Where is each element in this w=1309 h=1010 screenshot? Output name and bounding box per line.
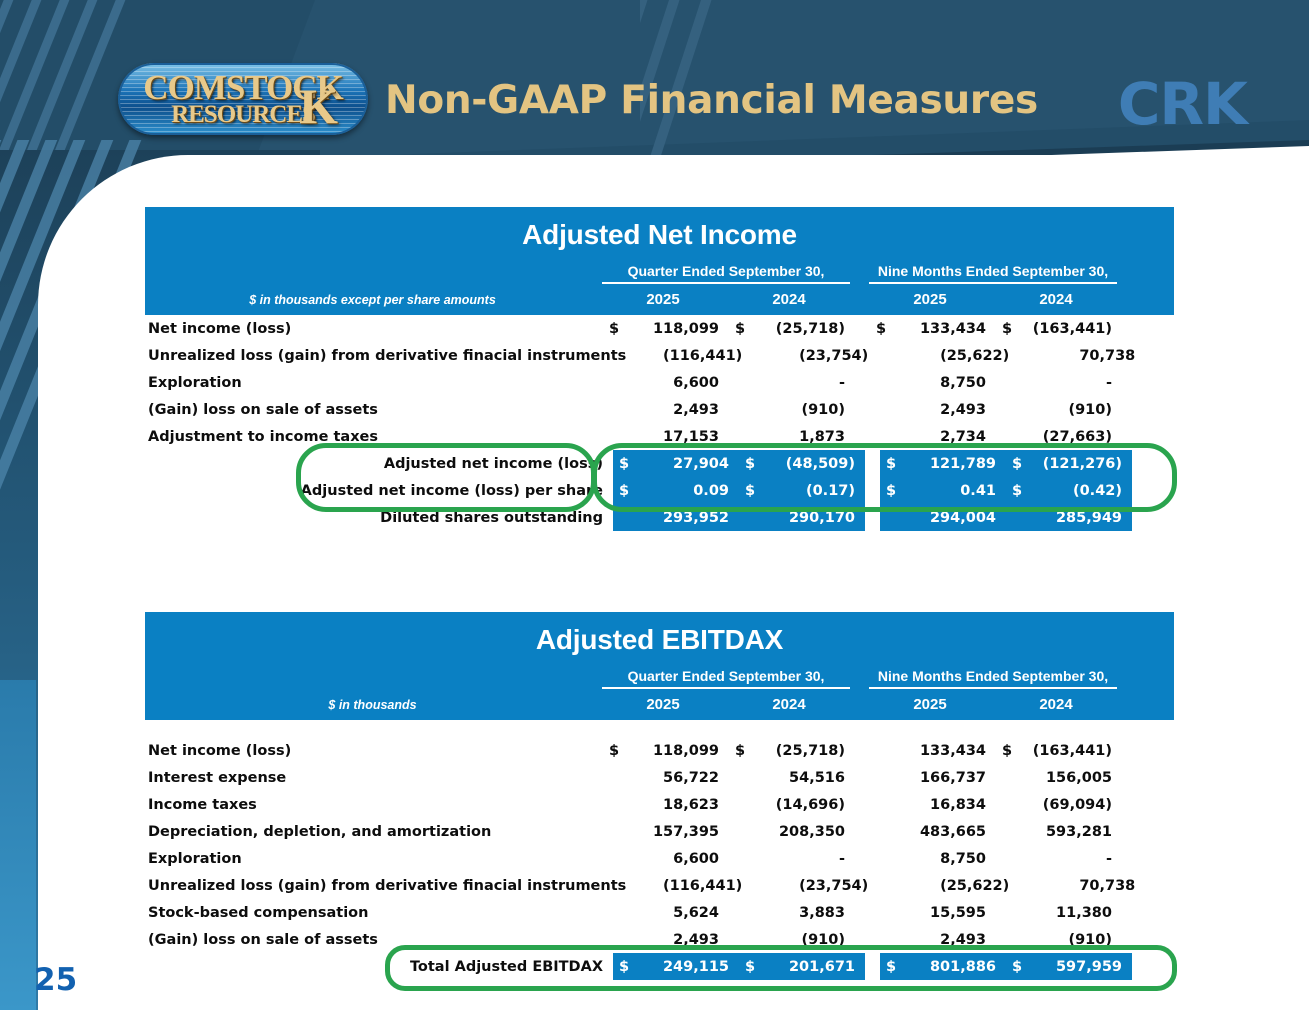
table-cell: (116,441) bbox=[626, 342, 752, 369]
cell-group: $0.41$(0.42) bbox=[880, 477, 1132, 504]
table-cell: 6,600 bbox=[603, 369, 729, 396]
cell-group: $27,904$(48,509) bbox=[613, 450, 865, 477]
table-cell: $121,789 bbox=[880, 450, 1006, 477]
header-rule bbox=[602, 687, 850, 689]
table-cell: (910) bbox=[996, 396, 1122, 423]
cell-value: 2,493 bbox=[635, 402, 729, 418]
cell-value: - bbox=[761, 851, 855, 867]
cell-group: (116,441)(23,754) bbox=[626, 342, 878, 369]
cell-value: 0.09 bbox=[645, 483, 739, 499]
table-cell: 16,834 bbox=[870, 791, 996, 818]
cell-group: 5,6243,883 bbox=[603, 899, 855, 926]
table-cell: $0.41 bbox=[880, 477, 1006, 504]
table-header: Adjusted EBITDAX $ in thousands Quarter … bbox=[145, 612, 1174, 720]
cell-group: 6,600- bbox=[603, 369, 855, 396]
table-cell: (910) bbox=[729, 396, 855, 423]
cell-value: (121,276) bbox=[1038, 456, 1132, 472]
cell-group: 8,750- bbox=[870, 845, 1122, 872]
column-group-quarter-label: Quarter Ended September 30, bbox=[600, 668, 852, 687]
currency-symbol: $ bbox=[603, 743, 635, 759]
cell-value: 121,789 bbox=[912, 456, 1006, 472]
row-label: Total Adjusted EBITDAX bbox=[145, 959, 613, 975]
table-cell: - bbox=[729, 369, 855, 396]
column-year-n-2025: 2025 bbox=[867, 291, 993, 315]
table-cell: 285,949 bbox=[1006, 504, 1132, 531]
table-cell: (25,622) bbox=[893, 342, 1019, 369]
cell-value: 11,380 bbox=[1028, 905, 1122, 921]
cell-value: (0.17) bbox=[771, 483, 865, 499]
currency-symbol: $ bbox=[996, 743, 1028, 759]
cell-value: 2,493 bbox=[902, 402, 996, 418]
column-group-nine-months: Nine Months Ended September 30, 2025 202… bbox=[867, 668, 1119, 720]
table-cell: $(48,509) bbox=[739, 450, 865, 477]
column-year-q-2025: 2025 bbox=[600, 696, 726, 720]
table-row: Adjustment to income taxes17,1531,8732,7… bbox=[145, 423, 1174, 450]
table-title: Adjusted Net Income bbox=[145, 207, 1174, 253]
table-cell: 2,734 bbox=[870, 423, 996, 450]
currency-symbol: $ bbox=[613, 456, 645, 472]
table-cell: 156,005 bbox=[996, 764, 1122, 791]
column-group-quarter-label: Quarter Ended September 30, bbox=[600, 263, 852, 282]
row-label: (Gain) loss on sale of assets bbox=[145, 402, 603, 418]
column-year-n-2024: 2024 bbox=[993, 696, 1119, 720]
currency-symbol: $ bbox=[739, 456, 771, 472]
cell-value: (27,663) bbox=[1028, 429, 1122, 445]
cell-value: 0.41 bbox=[912, 483, 1006, 499]
column-year-n-2024: 2024 bbox=[993, 291, 1119, 315]
table-body: Net income (loss)$118,099$(25,718)133,43… bbox=[145, 720, 1174, 980]
table-column-headers: $ in thousands except per share amounts … bbox=[145, 253, 1174, 315]
cell-value: 593,281 bbox=[1028, 824, 1122, 840]
cell-group: 16,834(69,094) bbox=[870, 791, 1122, 818]
cell-value: (23,754) bbox=[784, 348, 878, 364]
row-label: Interest expense bbox=[145, 770, 603, 786]
cell-value: (116,441) bbox=[658, 878, 752, 894]
cell-value: 133,434 bbox=[902, 321, 996, 337]
table-cell: $801,886 bbox=[880, 953, 1006, 980]
currency-symbol: $ bbox=[1006, 959, 1038, 975]
cell-group: 2,493(910) bbox=[870, 396, 1122, 423]
table-title: Adjusted EBITDAX bbox=[145, 612, 1174, 658]
units-note: $ in thousands bbox=[145, 698, 600, 720]
table-cell: (23,754) bbox=[752, 342, 878, 369]
logo-line-2: RESOURCES bbox=[171, 103, 315, 126]
cell-value: - bbox=[1028, 375, 1122, 391]
units-note: $ in thousands except per share amounts bbox=[145, 293, 600, 315]
currency-symbol: $ bbox=[739, 483, 771, 499]
table-row: Diluted shares outstanding293,952290,170… bbox=[145, 504, 1174, 531]
cell-value: 118,099 bbox=[635, 321, 729, 337]
table-body: Net income (loss)$118,099$(25,718)$133,4… bbox=[145, 315, 1174, 531]
cell-value: (910) bbox=[1028, 402, 1122, 418]
row-label: Exploration bbox=[145, 375, 603, 391]
cell-value: 166,737 bbox=[902, 770, 996, 786]
cell-value: - bbox=[1028, 851, 1122, 867]
page-number: 25 bbox=[34, 962, 77, 998]
cell-value: 2,734 bbox=[902, 429, 996, 445]
table-row: Exploration6,600-8,750- bbox=[145, 845, 1174, 872]
row-label: Unrealized loss (gain) from derivative f… bbox=[145, 348, 626, 364]
table-cell: 8,750 bbox=[870, 369, 996, 396]
cell-group: 56,72254,516 bbox=[603, 764, 855, 791]
row-label: Net income (loss) bbox=[145, 321, 603, 337]
cell-group: 15,59511,380 bbox=[870, 899, 1122, 926]
cell-group: $118,099$(25,718) bbox=[603, 737, 855, 764]
table-column-headers: $ in thousands Quarter Ended September 3… bbox=[145, 658, 1174, 720]
table-cell: 166,737 bbox=[870, 764, 996, 791]
cell-value: 597,959 bbox=[1038, 959, 1132, 975]
row-label: Adjustment to income taxes bbox=[145, 429, 603, 445]
table-header: Adjusted Net Income $ in thousands excep… bbox=[145, 207, 1174, 315]
cell-group: 8,750- bbox=[870, 369, 1122, 396]
cell-value: (163,441) bbox=[1028, 321, 1122, 337]
table-cell: (27,663) bbox=[996, 423, 1122, 450]
table-cell: $133,434 bbox=[870, 315, 996, 342]
table-cell: (14,696) bbox=[729, 791, 855, 818]
table-cell: 208,350 bbox=[729, 818, 855, 845]
table-row: Interest expense56,72254,516166,737156,0… bbox=[145, 764, 1174, 791]
column-year-q-2025: 2025 bbox=[600, 291, 726, 315]
table-cell: 157,395 bbox=[603, 818, 729, 845]
cell-group: 2,493(910) bbox=[603, 926, 855, 953]
page-title: Non-GAAP Financial Measures bbox=[385, 78, 1038, 123]
cell-value: 6,600 bbox=[635, 375, 729, 391]
comstock-resources-logo: COMSTOCK RESOURCES K bbox=[118, 63, 368, 135]
table-cell: 2,493 bbox=[603, 396, 729, 423]
table-cell: 5,624 bbox=[603, 899, 729, 926]
cell-value: 208,350 bbox=[761, 824, 855, 840]
table-cell: 56,722 bbox=[603, 764, 729, 791]
left-accent-strip bbox=[0, 680, 36, 1010]
cell-group: 2,493(910) bbox=[603, 396, 855, 423]
cell-value: 801,886 bbox=[912, 959, 1006, 975]
cell-group: 166,737156,005 bbox=[870, 764, 1122, 791]
table-row: Net income (loss)$118,099$(25,718)$133,4… bbox=[145, 315, 1174, 342]
column-year-q-2024: 2024 bbox=[726, 291, 852, 315]
table-row: Adjusted net income (loss)$27,904$(48,50… bbox=[145, 450, 1174, 477]
logo-k-glyph: K bbox=[299, 77, 338, 135]
header-rule bbox=[869, 687, 1117, 689]
table-row: Depreciation, depletion, and amortizatio… bbox=[145, 818, 1174, 845]
table-cell: $(163,441) bbox=[996, 315, 1122, 342]
table-cell: (116,441) bbox=[626, 872, 752, 899]
row-label: Depreciation, depletion, and amortizatio… bbox=[145, 824, 603, 840]
cell-group: 6,600- bbox=[603, 845, 855, 872]
cell-value: 2,493 bbox=[635, 932, 729, 948]
cell-value: 16,834 bbox=[902, 797, 996, 813]
column-group-nine-months: Nine Months Ended September 30, 2025 202… bbox=[867, 263, 1119, 315]
table-cell: 54,516 bbox=[729, 764, 855, 791]
table-cell: 11,380 bbox=[996, 899, 1122, 926]
cell-value: 483,665 bbox=[902, 824, 996, 840]
table-cell: 17,153 bbox=[603, 423, 729, 450]
cell-group: $121,789$(121,276) bbox=[880, 450, 1132, 477]
table-cell: 2,493 bbox=[603, 926, 729, 953]
cell-value: 294,004 bbox=[912, 510, 1006, 526]
table-row: Adjusted net income (loss) per share$0.0… bbox=[145, 477, 1174, 504]
header-rule bbox=[602, 282, 850, 284]
cell-value: (25,622) bbox=[925, 348, 1019, 364]
table-row: Stock-based compensation5,6243,88315,595… bbox=[145, 899, 1174, 926]
cell-group: 2,493(910) bbox=[870, 926, 1122, 953]
cell-value: (25,622) bbox=[925, 878, 1019, 894]
table-cell: $(0.42) bbox=[1006, 477, 1132, 504]
row-label: Exploration bbox=[145, 851, 603, 867]
row-label: Unrealized loss (gain) from derivative f… bbox=[145, 878, 626, 894]
table-row: Income taxes18,623(14,696)16,834(69,094) bbox=[145, 791, 1174, 818]
cell-group: 483,665593,281 bbox=[870, 818, 1122, 845]
table-cell: 70,738 bbox=[1019, 342, 1145, 369]
table-cell: (23,754) bbox=[752, 872, 878, 899]
cell-value: 118,099 bbox=[635, 743, 729, 759]
table-cell: 18,623 bbox=[603, 791, 729, 818]
currency-symbol: $ bbox=[870, 321, 902, 337]
cell-value: 70,738 bbox=[1051, 878, 1145, 894]
cell-group: 2,734(27,663) bbox=[870, 423, 1122, 450]
cell-value: (69,094) bbox=[1028, 797, 1122, 813]
table-cell: 1,873 bbox=[729, 423, 855, 450]
currency-symbol: $ bbox=[996, 321, 1028, 337]
table-cell: $(121,276) bbox=[1006, 450, 1132, 477]
cell-group: 293,952290,170 bbox=[613, 504, 865, 531]
table-cell: 593,281 bbox=[996, 818, 1122, 845]
cell-value: 56,722 bbox=[635, 770, 729, 786]
cell-value: 133,434 bbox=[902, 743, 996, 759]
cell-value: 5,624 bbox=[635, 905, 729, 921]
cell-value: 2,493 bbox=[902, 932, 996, 948]
currency-symbol: $ bbox=[729, 743, 761, 759]
cell-value: (25,718) bbox=[761, 321, 855, 337]
table-cell: $118,099 bbox=[603, 737, 729, 764]
column-year-q-2024: 2024 bbox=[726, 696, 852, 720]
cell-group: $0.09$(0.17) bbox=[613, 477, 865, 504]
table-cell: 15,595 bbox=[870, 899, 996, 926]
cell-value: 6,600 bbox=[635, 851, 729, 867]
cell-value: (14,696) bbox=[761, 797, 855, 813]
currency-symbol: $ bbox=[729, 321, 761, 337]
cell-value: (910) bbox=[761, 932, 855, 948]
cell-group: $133,434$(163,441) bbox=[870, 315, 1122, 342]
table-cell: - bbox=[996, 845, 1122, 872]
row-label: Diluted shares outstanding bbox=[145, 510, 613, 526]
cell-group: (25,622)70,738 bbox=[893, 342, 1145, 369]
table-cell: 3,883 bbox=[729, 899, 855, 926]
cell-value: 156,005 bbox=[1028, 770, 1122, 786]
table-cell: - bbox=[996, 369, 1122, 396]
column-group-nine-months-label: Nine Months Ended September 30, bbox=[867, 263, 1119, 282]
table-cell: 133,434 bbox=[870, 737, 996, 764]
cell-value: 18,623 bbox=[635, 797, 729, 813]
currency-symbol: $ bbox=[739, 959, 771, 975]
cell-value: 249,115 bbox=[645, 959, 739, 975]
cell-group: $801,886$597,959 bbox=[880, 953, 1132, 980]
cell-group: $118,099$(25,718) bbox=[603, 315, 855, 342]
cell-value: (910) bbox=[1028, 932, 1122, 948]
cell-value: (163,441) bbox=[1028, 743, 1122, 759]
row-label: Net income (loss) bbox=[145, 743, 603, 759]
table-cell: - bbox=[729, 845, 855, 872]
adjusted-net-income-table: Adjusted Net Income $ in thousands excep… bbox=[145, 207, 1174, 531]
column-year-n-2025: 2025 bbox=[867, 696, 993, 720]
cell-group: 157,395208,350 bbox=[603, 818, 855, 845]
table-row: Total Adjusted EBITDAX$249,115$201,671$8… bbox=[145, 953, 1174, 980]
cell-value: 293,952 bbox=[645, 510, 739, 526]
row-label: (Gain) loss on sale of assets bbox=[145, 932, 603, 948]
cell-value: 8,750 bbox=[902, 851, 996, 867]
cell-group: (25,622)70,738 bbox=[893, 872, 1145, 899]
currency-symbol: $ bbox=[1006, 483, 1038, 499]
cell-value: 70,738 bbox=[1051, 348, 1145, 364]
table-cell: $(0.17) bbox=[739, 477, 865, 504]
table-cell: (69,094) bbox=[996, 791, 1122, 818]
table-row: Exploration6,600-8,750- bbox=[145, 369, 1174, 396]
table-cell: $118,099 bbox=[603, 315, 729, 342]
table-cell: $27,904 bbox=[613, 450, 739, 477]
adjusted-ebitdax-table: Adjusted EBITDAX $ in thousands Quarter … bbox=[145, 612, 1174, 980]
table-cell: (25,622) bbox=[893, 872, 1019, 899]
currency-symbol: $ bbox=[880, 483, 912, 499]
table-row: Unrealized loss (gain) from derivative f… bbox=[145, 342, 1174, 369]
cell-group: 294,004285,949 bbox=[880, 504, 1132, 531]
table-row: Net income (loss)$118,099$(25,718)133,43… bbox=[145, 737, 1174, 764]
column-group-quarter: Quarter Ended September 30, 2025 2024 bbox=[600, 668, 852, 720]
currency-symbol: $ bbox=[613, 959, 645, 975]
cell-value: 17,153 bbox=[635, 429, 729, 445]
row-label: Income taxes bbox=[145, 797, 603, 813]
cell-value: 290,170 bbox=[771, 510, 865, 526]
currency-symbol: $ bbox=[880, 959, 912, 975]
cell-value: 15,595 bbox=[902, 905, 996, 921]
currency-symbol: $ bbox=[603, 321, 635, 337]
row-label: Stock-based compensation bbox=[145, 905, 603, 921]
table-cell: 6,600 bbox=[603, 845, 729, 872]
cell-value: (0.42) bbox=[1038, 483, 1132, 499]
table-cell: $597,959 bbox=[1006, 953, 1132, 980]
table-cell: 2,493 bbox=[870, 926, 996, 953]
table-cell: (910) bbox=[996, 926, 1122, 953]
cell-value: (116,441) bbox=[658, 348, 752, 364]
table-cell: $(25,718) bbox=[729, 315, 855, 342]
cell-value: 54,516 bbox=[761, 770, 855, 786]
table-row: (Gain) loss on sale of assets2,493(910)2… bbox=[145, 396, 1174, 423]
currency-symbol: $ bbox=[1006, 456, 1038, 472]
column-group-quarter: Quarter Ended September 30, 2025 2024 bbox=[600, 263, 852, 315]
table-cell: $(163,441) bbox=[996, 737, 1122, 764]
currency-symbol: $ bbox=[880, 456, 912, 472]
table-cell: 2,493 bbox=[870, 396, 996, 423]
cell-value: 201,671 bbox=[771, 959, 865, 975]
cell-value: 1,873 bbox=[761, 429, 855, 445]
cell-group: 17,1531,873 bbox=[603, 423, 855, 450]
cell-group: $249,115$201,671 bbox=[613, 953, 865, 980]
table-cell: 290,170 bbox=[739, 504, 865, 531]
table-cell: 483,665 bbox=[870, 818, 996, 845]
table-cell: (910) bbox=[729, 926, 855, 953]
cell-value: (23,754) bbox=[784, 878, 878, 894]
cell-value: (48,509) bbox=[771, 456, 865, 472]
cell-value: 27,904 bbox=[645, 456, 739, 472]
cell-value: 3,883 bbox=[761, 905, 855, 921]
table-cell: 8,750 bbox=[870, 845, 996, 872]
table-cell: 70,738 bbox=[1019, 872, 1145, 899]
table-row: Unrealized loss (gain) from derivative f… bbox=[145, 872, 1174, 899]
cell-group: 18,623(14,696) bbox=[603, 791, 855, 818]
cell-value: (910) bbox=[761, 402, 855, 418]
cell-value: 285,949 bbox=[1038, 510, 1132, 526]
table-cell: $(25,718) bbox=[729, 737, 855, 764]
cell-group: 133,434$(163,441) bbox=[870, 737, 1122, 764]
column-group-nine-months-label: Nine Months Ended September 30, bbox=[867, 668, 1119, 687]
ticker-logo: CRK bbox=[1118, 70, 1247, 138]
cell-value: - bbox=[761, 375, 855, 391]
cell-value: 8,750 bbox=[902, 375, 996, 391]
table-cell: $201,671 bbox=[739, 953, 865, 980]
table-cell: 293,952 bbox=[613, 504, 739, 531]
cell-group: (116,441)(23,754) bbox=[626, 872, 878, 899]
currency-symbol: $ bbox=[613, 483, 645, 499]
cell-value: (25,718) bbox=[761, 743, 855, 759]
row-label: Adjusted net income (loss) per share bbox=[145, 483, 613, 499]
cell-value: 157,395 bbox=[635, 824, 729, 840]
table-cell: $249,115 bbox=[613, 953, 739, 980]
row-label: Adjusted net income (loss) bbox=[145, 456, 613, 472]
table-row: (Gain) loss on sale of assets2,493(910)2… bbox=[145, 926, 1174, 953]
table-cell: 294,004 bbox=[880, 504, 1006, 531]
table-cell: $0.09 bbox=[613, 477, 739, 504]
header-rule bbox=[869, 282, 1117, 284]
